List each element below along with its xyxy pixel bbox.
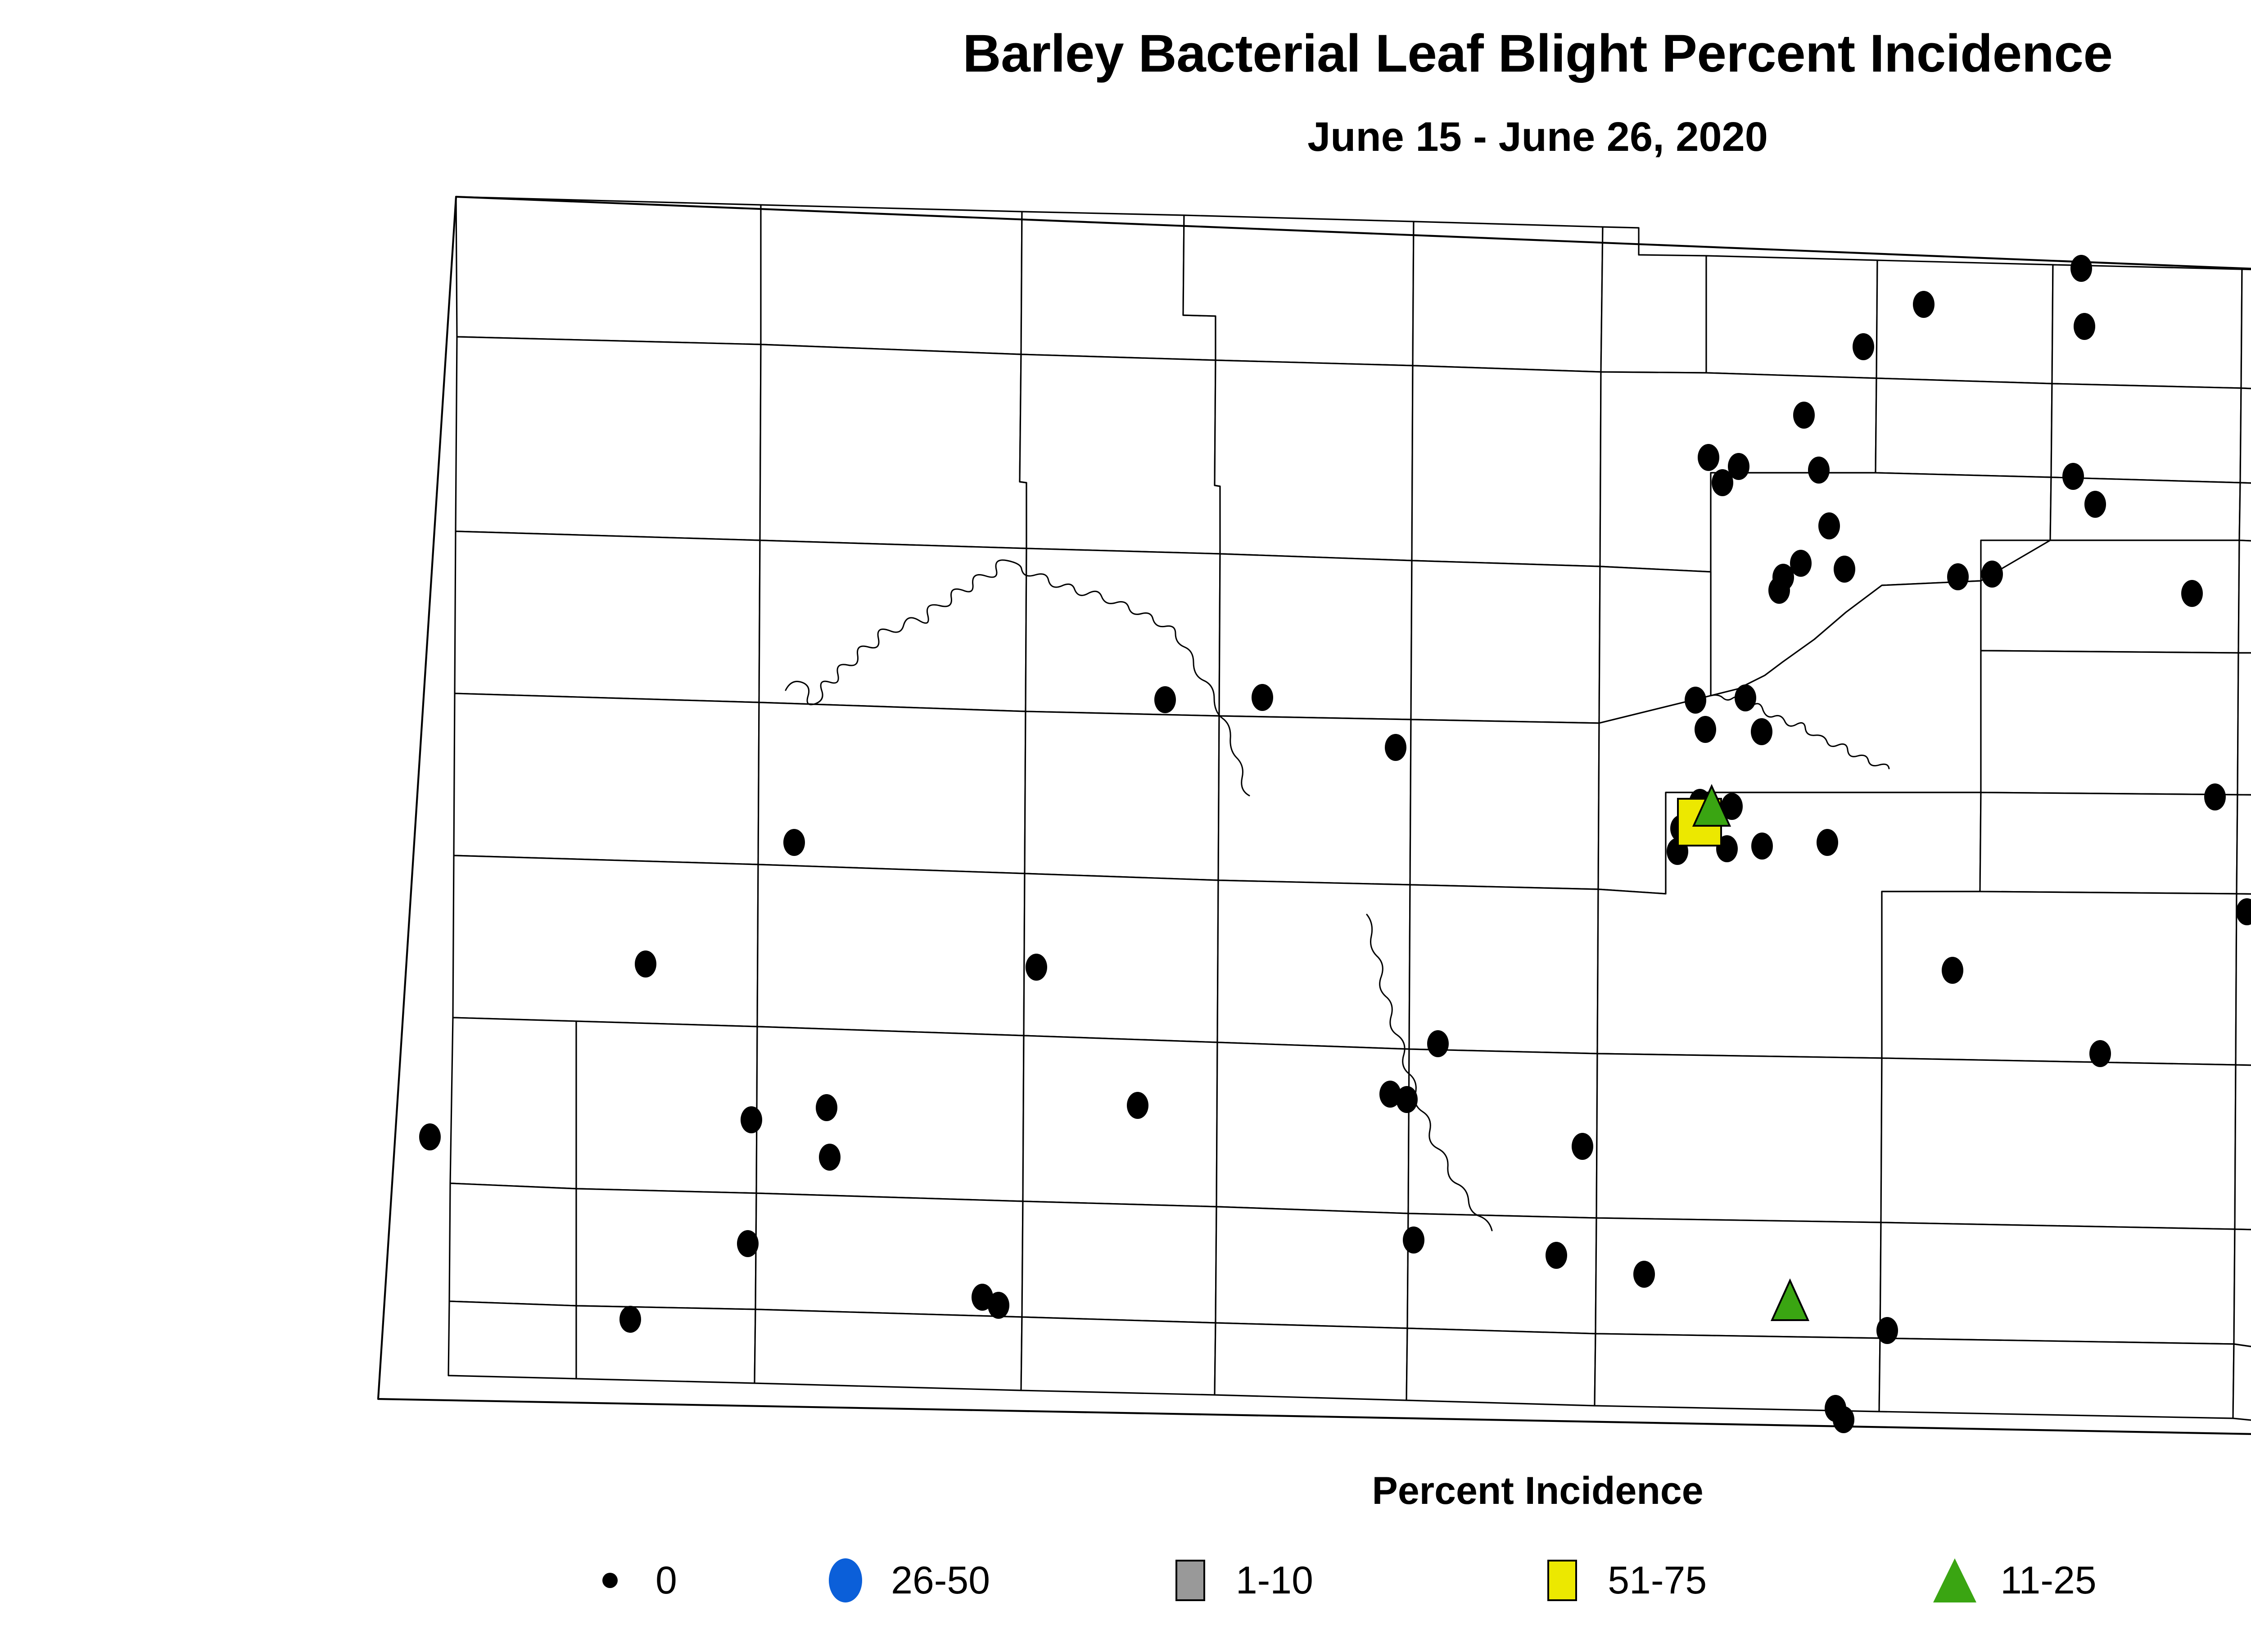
blue-circle-icon [812, 1547, 879, 1614]
incidence-marker-0[interactable] [1942, 957, 1963, 984]
incidence-marker-0[interactable] [1403, 1227, 1424, 1254]
incidence-marker-0[interactable] [1808, 457, 1830, 484]
incidence-marker-0[interactable] [1698, 444, 1719, 471]
legend: 026-501-1051-7511-2576-100 [576, 1540, 2251, 1621]
legend-title: Percent Incidence [0, 1471, 2251, 1510]
incidence-marker-0[interactable] [1751, 833, 1773, 860]
legend-item-0[interactable]: 0 [576, 1540, 812, 1621]
incidence-marker-0[interactable] [619, 1306, 641, 1333]
incidence-marker-0[interactable] [2074, 313, 2095, 340]
incidence-marker-0[interactable] [1751, 718, 1772, 745]
incidence-marker-0[interactable] [1252, 684, 1273, 711]
incidence-marker-0[interactable] [1735, 684, 1756, 711]
incidence-marker-0[interactable] [1768, 577, 1790, 604]
yellow-square-icon [1528, 1547, 1596, 1614]
blue-circle-icon-glyph [829, 1558, 862, 1602]
incidence-marker-0[interactable] [1834, 556, 1855, 583]
incidence-marker-0[interactable] [1633, 1261, 1655, 1288]
incidence-marker-0[interactable] [1695, 716, 1716, 743]
incidence-marker-0[interactable] [1385, 734, 1406, 761]
incidence-marker-0[interactable] [2181, 580, 2203, 607]
incidence-marker-0[interactable] [783, 829, 805, 856]
black-dot-icon-glyph [602, 1573, 618, 1588]
incidence-marker-0[interactable] [1396, 1086, 1418, 1113]
map-svg [0, 171, 2251, 1459]
gray-square-icon [1157, 1547, 1224, 1614]
incidence-marker-0[interactable] [1947, 563, 1969, 590]
incidence-marker-0[interactable] [1876, 1317, 1898, 1344]
incidence-marker-0[interactable] [1546, 1242, 1567, 1269]
incidence-marker-0[interactable] [737, 1230, 759, 1257]
black-dot-icon [576, 1547, 644, 1614]
legend-item-51-75[interactable]: 51-75 [1528, 1540, 1921, 1621]
yellow-square-icon-glyph [1547, 1560, 1577, 1601]
incidence-marker-0[interactable] [988, 1292, 1009, 1319]
incidence-marker-0[interactable] [1712, 469, 1733, 496]
incidence-marker-0[interactable] [2062, 463, 2084, 490]
incidence-marker-0[interactable] [1685, 687, 1706, 714]
incidence-marker-0[interactable] [2070, 255, 2092, 282]
legend-label: 51-75 [1608, 1561, 1707, 1600]
incidence-marker-0[interactable] [635, 950, 656, 978]
legend-label: 26-50 [891, 1561, 990, 1600]
incidence-marker-0[interactable] [1572, 1133, 1593, 1160]
incidence-marker-0[interactable] [1833, 1406, 1854, 1433]
green-triangle-icon [1921, 1547, 1989, 1614]
legend-label: 0 [655, 1561, 677, 1600]
green-triangle-icon-glyph [1933, 1558, 1976, 1602]
incidence-marker-0[interactable] [1981, 561, 2003, 588]
incidence-marker-0[interactable] [1817, 829, 1838, 856]
incidence-marker-0[interactable] [2084, 491, 2106, 518]
legend-label: 1-10 [1236, 1561, 1313, 1600]
incidence-marker-0[interactable] [419, 1123, 441, 1150]
page-title: Barley Bacterial Leaf Blight Percent Inc… [0, 27, 2251, 80]
county-boundaries [448, 197, 2251, 1437]
incidence-marker-0[interactable] [1154, 686, 1176, 713]
legend-label: 11-25 [2000, 1561, 2097, 1600]
incidence-marker-0[interactable] [2089, 1040, 2111, 1067]
legend-item-1-10[interactable]: 1-10 [1157, 1540, 1528, 1621]
incidence-marker-0[interactable] [816, 1094, 837, 1121]
incidence-marker-0[interactable] [1913, 291, 1935, 318]
north-dakota-map[interactable] [0, 171, 2251, 1459]
page-subtitle: June 15 - June 26, 2020 [0, 116, 2251, 158]
map-figure: Barley Bacterial Leaf Blight Percent Inc… [0, 0, 2251, 1652]
incidence-marker-0[interactable] [1853, 333, 1874, 360]
legend-item-26-50[interactable]: 26-50 [812, 1540, 1157, 1621]
gray-square-icon-glyph [1175, 1560, 1205, 1601]
incidence-marker-0[interactable] [1818, 512, 1840, 539]
incidence-marker-0[interactable] [1793, 402, 1815, 429]
incidence-marker-0[interactable] [2204, 783, 2226, 810]
incidence-marker-0[interactable] [1026, 954, 1047, 981]
incidence-marker-0[interactable] [1427, 1030, 1449, 1057]
legend-item-11-25[interactable]: 11-25 [1921, 1540, 2251, 1621]
incidence-marker-0[interactable] [819, 1144, 841, 1171]
incidence-marker-0[interactable] [741, 1106, 762, 1133]
incidence-marker-0[interactable] [1127, 1092, 1148, 1119]
